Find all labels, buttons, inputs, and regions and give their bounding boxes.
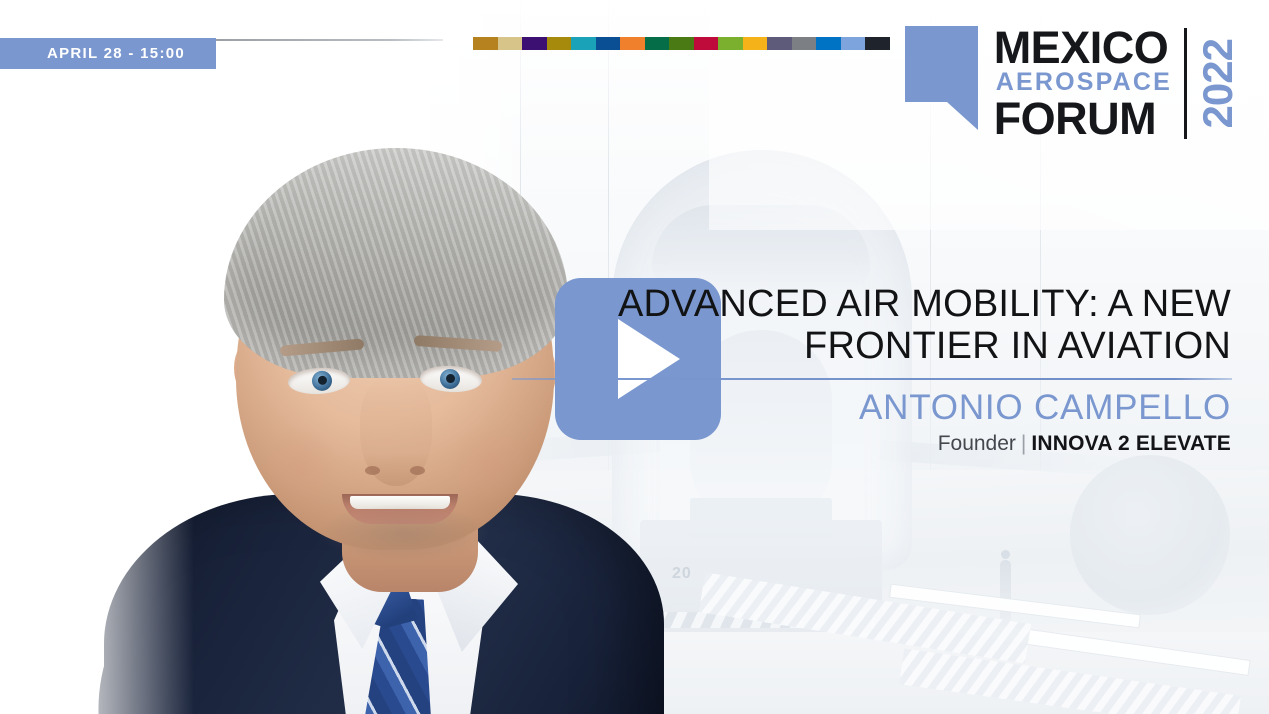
- header-rule: [213, 39, 443, 41]
- play-triangle-icon: [618, 319, 680, 399]
- date-time-label: APRIL 28 - 15:00: [47, 45, 185, 62]
- background-aircraft-engine: [1070, 455, 1230, 615]
- portrait-cheek-left: [262, 426, 340, 500]
- portrait-chin-shadow: [320, 504, 488, 562]
- logo-vertical-divider: [1184, 28, 1187, 139]
- mexico-aerospace-forum-logo: MEXICO AEROSPACE FORUM 2022: [905, 26, 1239, 141]
- video-thumbnail-slide: 20 APRIL 28 - 15:00 MEXICO AEROSPACE FOR…: [0, 0, 1269, 714]
- portrait-hair-texture: [224, 148, 568, 378]
- sdg-color-swatch-15: [816, 37, 841, 50]
- sdg-color-swatch-1: [473, 37, 498, 50]
- sdg-color-swatch-12: [743, 37, 768, 50]
- sdg-color-strip: [473, 37, 890, 50]
- portrait-nostril-right: [410, 466, 425, 475]
- portrait-nostril-left: [365, 466, 380, 475]
- logo-year-label: 2022: [1197, 39, 1239, 128]
- sdg-color-swatch-16: [841, 37, 866, 50]
- logo-line-mexico: MEXICO: [994, 26, 1172, 69]
- sdg-color-swatch-2: [498, 37, 523, 50]
- sdg-color-swatch-13: [767, 37, 792, 50]
- sdg-color-swatch-14: [792, 37, 817, 50]
- logo-line-aerospace: AEROSPACE: [994, 69, 1172, 96]
- sdg-color-swatch-10: [694, 37, 719, 50]
- background-marshaller-head: [1001, 550, 1010, 559]
- sdg-color-swatch-4: [547, 37, 572, 50]
- portrait-cheek-right: [448, 424, 530, 502]
- logo-wordmark: MEXICO AEROSPACE FORUM: [994, 26, 1172, 141]
- logo-line-forum: FORUM: [994, 96, 1172, 141]
- background-marshaller: [1000, 560, 1011, 626]
- play-button[interactable]: [555, 278, 721, 440]
- sdg-color-swatch-3: [522, 37, 547, 50]
- logo-year: 2022: [1197, 26, 1239, 141]
- sdg-color-swatch-8: [645, 37, 670, 50]
- sdg-color-swatch-6: [596, 37, 621, 50]
- date-time-badge: APRIL 28 - 15:00: [0, 38, 216, 69]
- sdg-color-swatch-5: [571, 37, 596, 50]
- sdg-color-swatch-9: [669, 37, 694, 50]
- sdg-color-swatch-7: [620, 37, 645, 50]
- speech-bubble-icon: [905, 26, 978, 120]
- sdg-color-swatch-17: [865, 37, 890, 50]
- sdg-color-swatch-11: [718, 37, 743, 50]
